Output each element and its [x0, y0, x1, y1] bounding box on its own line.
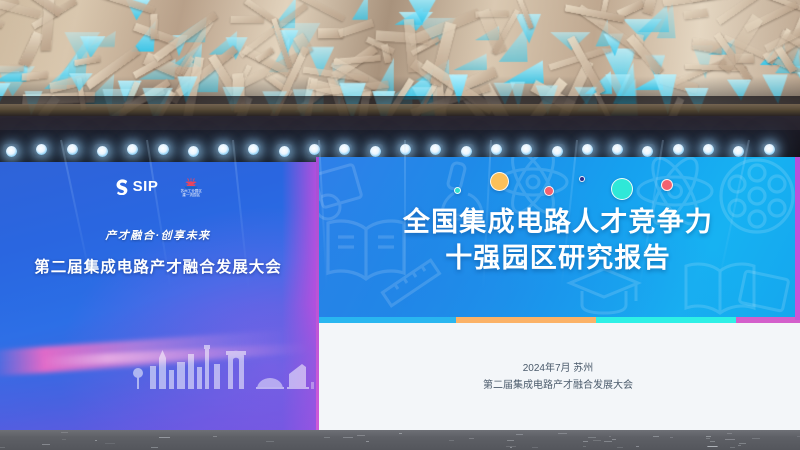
sip-s-mark-icon: [114, 178, 130, 195]
stage-spotlight: [461, 146, 472, 157]
slide-footer-line-2: 第二届集成电路产才融合发展大会: [316, 378, 800, 395]
floor-highlight: [558, 433, 566, 434]
dot-navy-tiny: [579, 176, 585, 182]
ceiling-wood-beam: [22, 71, 48, 81]
floor-highlight: [730, 447, 735, 448]
floor-highlight: [636, 446, 639, 447]
floor-highlight: [399, 433, 402, 434]
floor-highlight: [357, 435, 365, 436]
ceiling-cornice: [0, 104, 800, 116]
left-screen-conference-title: 第二届集成电路产才融合发展大会: [0, 255, 316, 277]
floor-highlight: [752, 438, 760, 439]
stage-spotlight: [67, 144, 78, 155]
slide-color-bar: [316, 317, 800, 323]
stage-spotlight: [158, 144, 169, 155]
floor-highlight: [366, 441, 369, 442]
floor-highlight: [707, 446, 718, 447]
stage-spotlight: [97, 146, 108, 157]
stage-spotlight: [673, 144, 684, 155]
floor-highlight: [532, 447, 539, 448]
floor-highlight: [670, 437, 673, 438]
bar-blue: [316, 317, 456, 323]
ceiling-wood-beam: [0, 0, 41, 18]
partner-logo-line2: 建一流园区: [182, 193, 200, 197]
floor-highlight: [710, 441, 715, 442]
slide-footer: 2024年7月 苏州 第二届集成电路产才融合发展大会: [316, 361, 800, 394]
floor-highlight: [516, 434, 522, 435]
stage-spotlight: [764, 144, 775, 155]
ceiling-glow-triangle: [453, 53, 488, 70]
suzhou-skyline-graphic: [126, 340, 316, 392]
stage-floor: [0, 430, 800, 450]
floor-highlight: [593, 440, 601, 441]
floor-highlight: [612, 439, 616, 440]
main-presentation-slide: 全国集成电路人才竞争力 十强园区研究报告 2024年7月 苏州 第二届集成电路产…: [316, 157, 800, 433]
floor-highlight: [507, 440, 514, 441]
stage-spotlight: [188, 146, 199, 157]
floor-highlight: [324, 437, 329, 438]
floor-highlight: [738, 445, 741, 446]
light-beam: [404, 140, 406, 290]
partner-logo: 苏州工业园区 建一流园区: [180, 176, 202, 198]
floor-highlight: [739, 443, 747, 444]
left-screen-slogan: 产才融合·创享未来: [0, 227, 316, 243]
bar-cyan: [596, 317, 736, 323]
dot-teal-small: [454, 187, 461, 194]
ceiling-wood-beam: [151, 14, 158, 40]
floor-highlight: [62, 439, 65, 440]
floor-highlight: [653, 436, 658, 437]
stage-spotlight: [552, 146, 563, 157]
floor-highlight: [706, 438, 710, 439]
floor-highlight: [583, 441, 588, 442]
floor-highlight: [725, 439, 735, 440]
bar-orange: [456, 317, 596, 323]
floor-highlight: [727, 433, 732, 434]
floor-highlight: [151, 447, 158, 448]
floor-highlight: [609, 436, 611, 437]
decorative-dot-row: [316, 165, 800, 197]
dot-orange-large: [490, 172, 509, 191]
geometric-ceiling-panel: [0, 0, 800, 110]
ceiling-wood-beam: [475, 10, 509, 17]
conference-stage-scene: SIP 苏州工业园区 建一流园区 产才融合·创享未来 第二届集成电路产才融合发展…: [0, 0, 800, 450]
partner-logo-mark-icon: [180, 176, 202, 188]
stage-spotlight: [370, 146, 381, 157]
floor-highlight: [213, 436, 217, 437]
dot-red-small: [544, 186, 554, 196]
floor-highlight: [583, 446, 586, 447]
stage-spotlight: [279, 146, 290, 157]
ceiling-wood-beam: [231, 16, 265, 24]
stage-spotlight: [6, 146, 17, 157]
bar-magenta: [736, 317, 800, 323]
floor-highlight: [105, 443, 115, 444]
floor-highlight: [617, 447, 623, 448]
floor-highlight: [42, 444, 50, 445]
ceiling-wood-beam: [642, 0, 656, 15]
dot-red-medium: [661, 179, 673, 191]
stage-spotlight: [491, 144, 502, 155]
floor-highlight: [266, 441, 274, 442]
left-screen-logo-row: SIP 苏州工业园区 建一流园区: [0, 176, 316, 198]
floor-highlight: [469, 438, 474, 439]
floor-highlight: [0, 447, 5, 448]
floor-highlight: [449, 440, 455, 441]
floor-highlight: [506, 446, 516, 447]
ceiling-glow-triangle: [352, 0, 368, 20]
floor-highlight: [343, 437, 353, 438]
floor-highlight: [604, 441, 612, 442]
stage-spotlight: [703, 144, 714, 155]
floor-highlight: [95, 440, 97, 441]
floor-highlight: [159, 437, 170, 438]
floor-highlight: [61, 432, 69, 433]
slide-footer-line-1: 2024年7月 苏州: [316, 361, 800, 378]
slide-left-magenta-edge: [316, 157, 319, 433]
stage-spotlight: [582, 144, 593, 155]
floor-highlight: [588, 437, 597, 438]
partner-logo-text: 苏州工业园区 建一流园区: [181, 189, 203, 198]
slide-right-magenta-edge: [795, 157, 800, 320]
floor-highlight: [706, 436, 711, 437]
dot-cyan-large: [611, 178, 633, 200]
ceiling-wood-beam: [684, 8, 710, 19]
ceiling-wood-beam: [338, 18, 375, 37]
